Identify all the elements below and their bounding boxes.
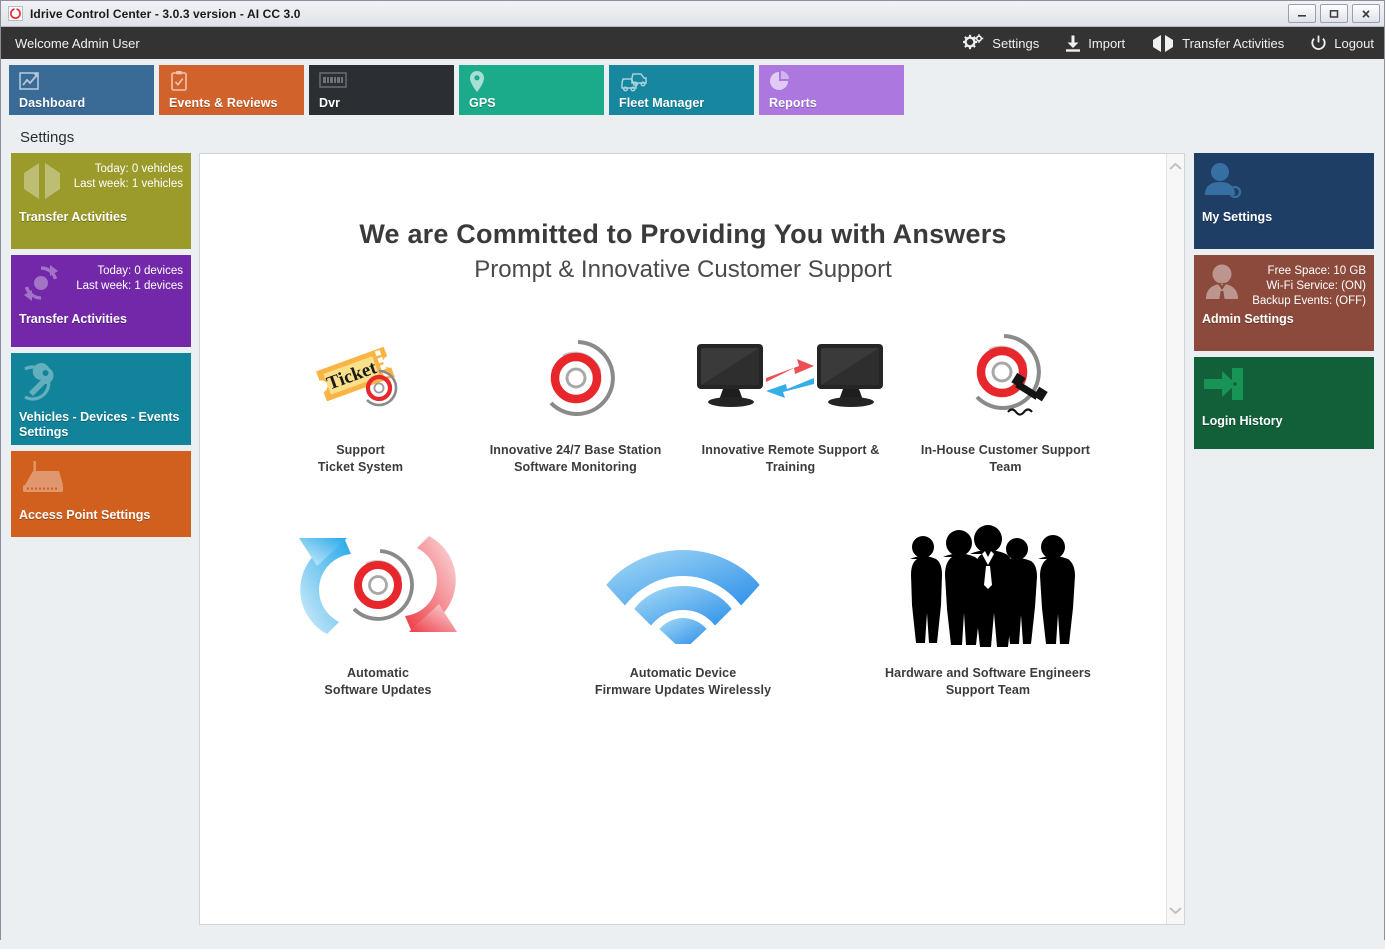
support-phone-icon (956, 328, 1056, 424)
page-title: Settings (1, 121, 1384, 153)
tab-dvr-label: Dvr (319, 96, 340, 110)
tab-fleet-manager[interactable]: Fleet Manager (609, 65, 754, 115)
admin-user-icon (1202, 263, 1242, 308)
brand-target-icon (530, 332, 622, 424)
feature-art: Ticket (305, 324, 417, 424)
tile-stat-line: Free Space: 10 GB (1268, 265, 1366, 277)
hero-subheadline: Prompt & Innovative Customer Support (200, 256, 1166, 284)
auto-update-icon (285, 522, 471, 647)
header-transfer-activities-label: Transfer Activities (1182, 36, 1284, 51)
header-transfer-activities-button[interactable]: Transfer Activities (1151, 35, 1284, 52)
caption-line-2: Team (989, 460, 1021, 474)
maximize-button[interactable] (1320, 4, 1348, 23)
tile-stats: Free Space: 10 GB Wi-Fi Service: (ON) Ba… (1252, 262, 1366, 309)
feature-automatic-software-updates: Automatic Software Updates (228, 522, 528, 699)
header-import-button[interactable]: Import (1065, 35, 1125, 52)
features-row-2: Automatic Software Updates (200, 522, 1166, 699)
pie-chart-icon (769, 70, 791, 97)
tab-fleet-manager-label: Fleet Manager (619, 96, 704, 110)
feature-art (695, 324, 887, 424)
page-body: Today: 0 vehicles Last week: 1 vehicles … (1, 153, 1384, 935)
feature-base-station-monitoring: Innovative 24/7 Base Station Software Mo… (468, 324, 683, 476)
feature-art (285, 522, 471, 647)
sync-device-icon (19, 263, 63, 308)
sidebar-tile-transfer-activities-vehicles[interactable]: Today: 0 vehicles Last week: 1 vehicles … (11, 153, 191, 249)
tile-stat-line: Today: 0 devices (97, 265, 183, 277)
application-window: Idrive Control Center - 3.0.3 version - … (0, 0, 1385, 940)
tile-top: Today: 0 vehicles Last week: 1 vehicles (19, 160, 183, 208)
caption-line-2: Support Team (946, 683, 1030, 697)
feature-caption: Automatic Device Firmware Updates Wirele… (595, 665, 771, 699)
engineers-team-icon (893, 525, 1083, 647)
caption-line-2: Firmware Updates Wirelessly (595, 683, 771, 697)
scroll-down-arrow-icon[interactable] (1169, 902, 1182, 920)
caption-line-1: Innovative 24/7 Base Station (490, 443, 662, 457)
left-sidebar: Today: 0 vehicles Last week: 1 vehicles … (11, 153, 191, 925)
feature-caption: In-House Customer Support Team (921, 442, 1090, 476)
header-logout-label: Logout (1334, 36, 1374, 51)
feature-in-house-support-team: In-House Customer Support Team (898, 324, 1113, 476)
tile-top (1202, 364, 1366, 412)
hero-section: We are Committed to Providing You with A… (200, 154, 1166, 284)
gear-icon (963, 34, 985, 52)
power-icon (1310, 35, 1327, 52)
transfer-icon (1151, 35, 1175, 52)
feature-caption: Hardware and Software Engineers Support … (885, 665, 1091, 699)
tab-dashboard[interactable]: Dashboard (9, 65, 154, 115)
sidebar-tile-my-settings[interactable]: My Settings (1194, 153, 1374, 249)
vehicles-icon (619, 70, 649, 97)
sidebar-tile-login-history[interactable]: Login History (1194, 357, 1374, 449)
login-arrow-icon (1202, 365, 1244, 408)
feature-caption: Automatic Software Updates (324, 665, 431, 699)
tile-label: Login History (1202, 414, 1366, 429)
header-logout-button[interactable]: Logout (1310, 35, 1374, 52)
tile-top: Today: 0 devices Last week: 1 devices (19, 262, 183, 310)
tab-reports[interactable]: Reports (759, 65, 904, 115)
sidebar-tile-transfer-activities-devices[interactable]: Today: 0 devices Last week: 1 devices Tr… (11, 255, 191, 347)
feature-hardware-software-engineers: Hardware and Software Engineers Support … (838, 522, 1138, 699)
tile-label: Transfer Activities (19, 312, 183, 327)
content-panel: We are Committed to Providing You with A… (199, 153, 1185, 925)
close-button[interactable] (1352, 4, 1380, 23)
top-header-bar: Welcome Admin User (1, 27, 1384, 59)
tab-dvr[interactable]: Dvr (309, 65, 454, 115)
tile-label: Vehicles - Devices - Events Settings (19, 410, 183, 440)
caption-line-1: Hardware and Software Engineers (885, 666, 1091, 680)
header-import-label: Import (1088, 36, 1125, 51)
map-pin-icon (469, 70, 485, 99)
tab-dashboard-label: Dashboard (19, 96, 85, 110)
header-actions: Settings Import (937, 34, 1374, 52)
tile-top (19, 458, 183, 506)
caption-line-2: Software Monitoring (514, 460, 637, 474)
feature-support-ticket-system: Ticket Support (253, 324, 468, 476)
sidebar-tile-admin-settings[interactable]: Free Space: 10 GB Wi-Fi Service: (ON) Ba… (1194, 255, 1374, 351)
transfer-arrows-icon (19, 161, 65, 206)
tile-top (1202, 160, 1366, 208)
content-vertical-scrollbar[interactable] (1166, 154, 1184, 924)
tile-top (19, 360, 183, 408)
remote-monitors-icon (695, 338, 887, 424)
tab-reports-label: Reports (769, 96, 817, 110)
content-scroll-area: We are Committed to Providing You with A… (200, 154, 1166, 924)
app-logo-icon (8, 6, 23, 21)
sidebar-tile-access-point-settings[interactable]: Access Point Settings (11, 451, 191, 537)
feature-art (893, 522, 1083, 647)
tile-label: Transfer Activities (19, 210, 183, 225)
tab-events-reviews[interactable]: Events & Reviews (159, 65, 304, 115)
tile-stat-line: Wi-Fi Service: (ON) (1266, 280, 1366, 292)
header-settings-button[interactable]: Settings (963, 34, 1039, 52)
bottom-strip (1, 935, 1384, 949)
minimize-button[interactable] (1288, 4, 1316, 23)
tile-top: Free Space: 10 GB Wi-Fi Service: (ON) Ba… (1202, 262, 1366, 310)
tile-label: Access Point Settings (19, 508, 183, 523)
tile-stat-line: Backup Events: (OFF) (1252, 295, 1366, 307)
wrench-icon (19, 361, 63, 408)
primary-nav-tabs: Dashboard Events & Reviews (1, 59, 1384, 121)
feature-remote-support-training: Innovative Remote Support & Training (683, 324, 898, 476)
window-controls (1288, 4, 1380, 23)
title-bar: Idrive Control Center - 3.0.3 version - … (1, 1, 1384, 27)
features-row-1: Ticket Support (200, 324, 1166, 476)
feature-art (956, 324, 1056, 424)
tile-stats: Today: 0 devices Last week: 1 devices (76, 262, 183, 294)
tile-stats: Today: 0 vehicles Last week: 1 vehicles (74, 160, 183, 192)
clipboard-check-icon (169, 70, 189, 97)
chart-arrow-icon (19, 70, 43, 97)
caption-line-2: Ticket System (318, 460, 403, 474)
feature-caption: Support Ticket System (318, 442, 403, 476)
router-icon (19, 459, 67, 502)
feature-art (530, 324, 622, 424)
tile-stat-line: Last week: 1 devices (76, 280, 183, 292)
tile-label: My Settings (1202, 210, 1366, 225)
caption-line-1: Automatic Device (630, 666, 737, 680)
caption-line-2: Software Updates (324, 683, 431, 697)
caption-line-1: Automatic (347, 666, 409, 680)
sidebar-tile-vehicles-devices-events-settings[interactable]: Vehicles - Devices - Events Settings (11, 353, 191, 445)
window-title: Idrive Control Center - 3.0.3 version - … (30, 7, 301, 21)
tile-label: Admin Settings (1202, 312, 1366, 327)
tile-stat-line: Today: 0 vehicles (95, 163, 183, 175)
right-sidebar: My Settings Free Space: 10 GB Wi (1194, 153, 1374, 925)
feature-art (603, 522, 763, 647)
scroll-up-arrow-icon[interactable] (1169, 158, 1182, 176)
welcome-message: Welcome Admin User (15, 36, 140, 51)
feature-caption: Innovative Remote Support & Training (702, 442, 880, 476)
tab-gps-label: GPS (469, 96, 496, 110)
hero-headline: We are Committed to Providing You with A… (200, 219, 1166, 250)
tab-gps[interactable]: GPS (459, 65, 604, 115)
feature-caption: Innovative 24/7 Base Station Software Mo… (490, 442, 662, 476)
wifi-icon (603, 527, 763, 647)
caption-line-1: Support (336, 443, 385, 457)
caption-line-2: Training (766, 460, 815, 474)
tile-stat-line: Last week: 1 vehicles (74, 178, 183, 190)
features-grid: Ticket Support (200, 324, 1166, 699)
download-icon (1065, 35, 1081, 52)
dvr-icon (319, 70, 347, 95)
caption-line-1: Innovative Remote Support & (702, 443, 880, 457)
caption-line-1: In-House Customer Support (921, 443, 1090, 457)
feature-device-firmware-updates: Automatic Device Firmware Updates Wirele… (528, 522, 838, 699)
tab-events-reviews-label: Events & Reviews (169, 96, 278, 110)
header-settings-label: Settings (992, 36, 1039, 51)
user-gear-icon (1202, 161, 1244, 206)
support-ticket-icon: Ticket (305, 328, 417, 424)
